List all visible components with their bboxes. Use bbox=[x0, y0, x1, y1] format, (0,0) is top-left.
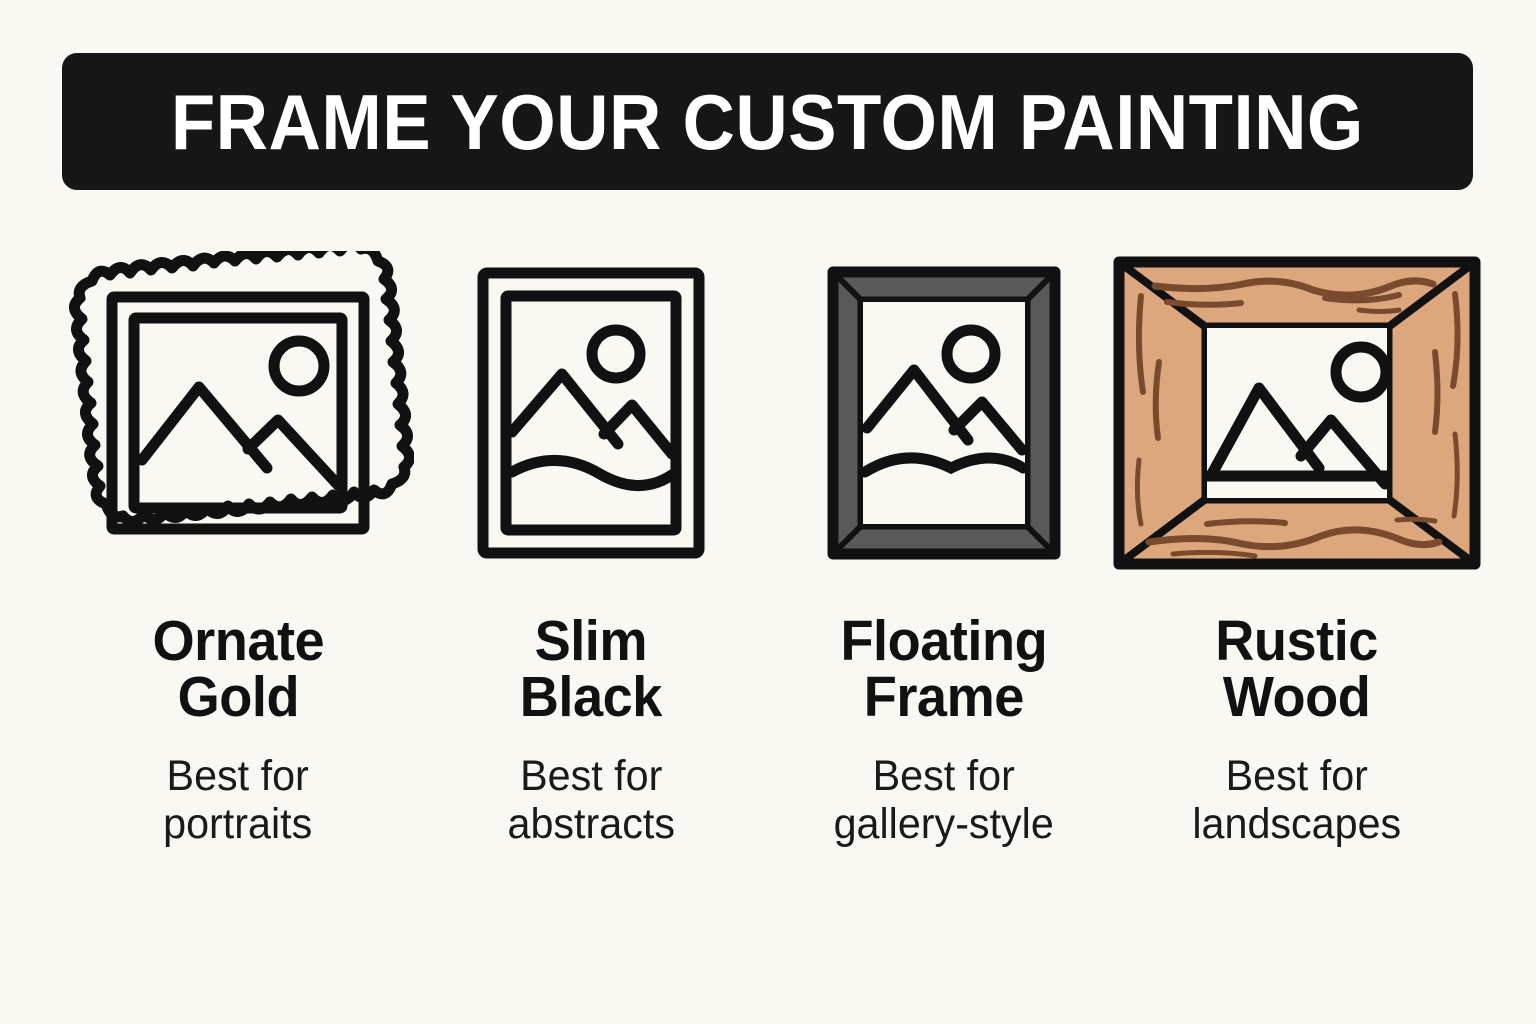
frame-option-subtitle-line1: Best for bbox=[873, 752, 1015, 800]
page-title: FRAME YOUR CUSTOM PAINTING bbox=[171, 83, 1364, 161]
infographic-page: FRAME YOUR CUSTOM PAINTING bbox=[0, 0, 1536, 1024]
frame-option-title-line1: Slim bbox=[535, 609, 647, 673]
frame-option-subtitle-line2: abstracts bbox=[507, 800, 674, 848]
frame-option-title-line1: Ornate bbox=[152, 609, 324, 673]
frame-option-title-line2: Black bbox=[520, 665, 662, 729]
frame-option-title: Floating Frame bbox=[841, 614, 1048, 726]
title-banner: FRAME YOUR CUSTOM PAINTING bbox=[62, 53, 1473, 190]
rustic-wood-frame-icon bbox=[1111, 248, 1483, 578]
frame-option-title: Slim Black bbox=[520, 614, 662, 726]
frame-option-subtitle: Best for gallery-style bbox=[834, 752, 1054, 848]
frame-option-title-line1: Rustic bbox=[1216, 609, 1379, 673]
frame-option-title: Ornate Gold bbox=[152, 614, 324, 726]
frame-option-ornate-gold[interactable]: Ornate Gold Best for portraits bbox=[62, 248, 414, 848]
ornate-gold-frame-icon bbox=[62, 248, 414, 578]
frame-option-floating-frame[interactable]: Floating Frame Best for gallery-style bbox=[768, 248, 1120, 848]
floating-frame-icon bbox=[825, 248, 1063, 578]
frame-option-subtitle-line1: Best for bbox=[167, 752, 309, 800]
frame-option-subtitle-line1: Best for bbox=[520, 752, 662, 800]
frame-option-subtitle: Best for landscapes bbox=[1193, 752, 1402, 848]
frame-option-title-line2: Frame bbox=[864, 665, 1024, 729]
frame-option-title-line2: Gold bbox=[177, 665, 298, 729]
frame-option-slim-black[interactable]: Slim Black Best for abstracts bbox=[415, 248, 767, 848]
frame-option-subtitle-line2: gallery-style bbox=[834, 800, 1054, 848]
frame-option-title-line2: Wood bbox=[1223, 665, 1370, 729]
frame-options-row: Ornate Gold Best for portraits bbox=[62, 248, 1473, 848]
frame-option-title-line1: Floating bbox=[841, 609, 1048, 673]
frame-option-title: Rustic Wood bbox=[1216, 614, 1379, 726]
frame-option-subtitle-line2: portraits bbox=[163, 800, 312, 848]
frame-option-subtitle: Best for abstracts bbox=[507, 752, 674, 848]
frame-option-rustic-wood[interactable]: Rustic Wood Best for landscapes bbox=[1121, 248, 1473, 848]
frame-option-subtitle-line1: Best for bbox=[1226, 752, 1368, 800]
frame-option-subtitle: Best for portraits bbox=[163, 752, 312, 848]
frame-option-subtitle-line2: landscapes bbox=[1193, 800, 1402, 848]
slim-black-frame-icon bbox=[474, 248, 708, 578]
